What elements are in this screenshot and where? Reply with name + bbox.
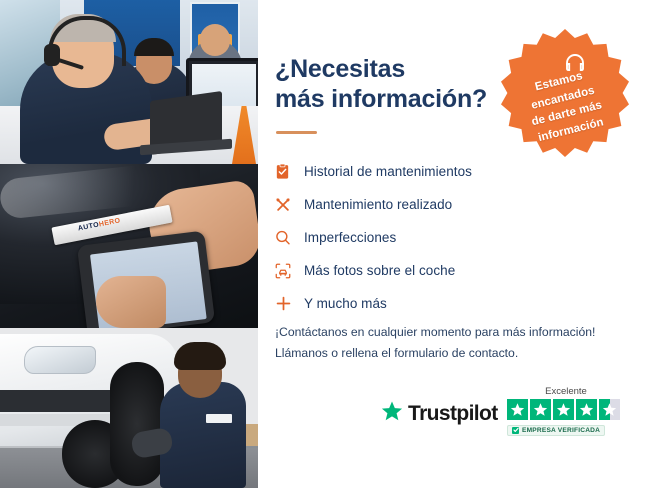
- workshop-wheel-photo: [0, 328, 258, 488]
- car-scan-icon: [274, 262, 304, 280]
- trustpilot-logo: Trustpilot: [381, 400, 498, 427]
- star-box: [507, 399, 528, 420]
- front-tire: [110, 362, 164, 486]
- background-person-head: [200, 24, 230, 56]
- trustpilot-rating: Excelente EMPRESA VERIFICADA: [507, 386, 641, 438]
- star-rating: [507, 399, 641, 420]
- feature-item-maintenance-done: Mantenimiento realizado: [274, 188, 574, 221]
- call-center-agent-photo: [0, 0, 258, 164]
- feature-item-much-more: Y mucho más: [274, 287, 574, 320]
- technician-hair: [174, 342, 226, 370]
- rating-label: Excelente: [507, 386, 625, 397]
- content-panel: ¿Necesitas más información? Estamos enca…: [258, 0, 650, 488]
- verified-check-icon: [512, 427, 519, 434]
- technician-body: [160, 382, 246, 488]
- title-line-2: más información?: [275, 85, 525, 115]
- magnifier-icon: [274, 229, 304, 247]
- promo-panel: AUTOHERO ¿Necesitas más: [0, 0, 650, 488]
- verified-company-badge: EMPRESA VERIFICADA: [507, 425, 605, 436]
- feature-label: Más fotos sobre el coche: [304, 263, 455, 278]
- trustpilot-widget[interactable]: Trustpilot Excelente EMPRESA VERIFICADA: [381, 386, 641, 448]
- feature-list: Historial de mantenimientos Mantenimient…: [274, 155, 574, 320]
- page-title: ¿Necesitas más información?: [275, 55, 525, 114]
- star-box: [576, 399, 597, 420]
- feature-label: Imperfecciones: [304, 230, 396, 245]
- vehicle-inspection-photo: AUTOHERO: [0, 164, 258, 328]
- contact-text: ¡Contáctanos en cualquier momento para m…: [275, 322, 635, 363]
- contact-line-2: Llámanos o rellena el formulario de cont…: [275, 343, 635, 364]
- feature-item-imperfections: Imperfecciones: [274, 221, 574, 254]
- star-box: [553, 399, 574, 420]
- star-box-half: [599, 399, 620, 420]
- trustpilot-wordmark: Trustpilot: [408, 402, 498, 426]
- feature-label: Y mucho más: [304, 296, 387, 311]
- clipboard-check-icon: [274, 163, 304, 180]
- feature-label: Historial de mantenimientos: [304, 164, 472, 179]
- car-grille: [0, 390, 114, 412]
- photo-column: AUTOHERO: [0, 0, 258, 488]
- ruler-brand-part1: AUTO: [77, 222, 99, 233]
- support-burst-badge: Estamos encantados de darte más informac…: [501, 29, 629, 157]
- uniform-logo: [206, 414, 232, 423]
- feature-item-maintenance-history: Historial de mantenimientos: [274, 155, 574, 188]
- headset-earcup: [44, 44, 60, 66]
- title-line-1: ¿Necesitas: [275, 55, 525, 85]
- trustpilot-star-icon: [381, 400, 403, 427]
- star-box: [530, 399, 551, 420]
- plus-icon: [274, 294, 304, 313]
- ruler-brand-part2: HERO: [98, 217, 121, 228]
- verified-label: EMPRESA VERIFICADA: [522, 427, 600, 434]
- tools-cross-icon: [274, 196, 304, 214]
- inspector-hand-lower: [96, 276, 166, 328]
- feature-item-more-photos: Más fotos sobre el coche: [274, 254, 574, 287]
- title-divider: [276, 131, 317, 134]
- car-headlight: [24, 346, 96, 374]
- contact-line-1: ¡Contáctanos en cualquier momento para m…: [275, 322, 635, 343]
- feature-label: Mantenimiento realizado: [304, 197, 452, 212]
